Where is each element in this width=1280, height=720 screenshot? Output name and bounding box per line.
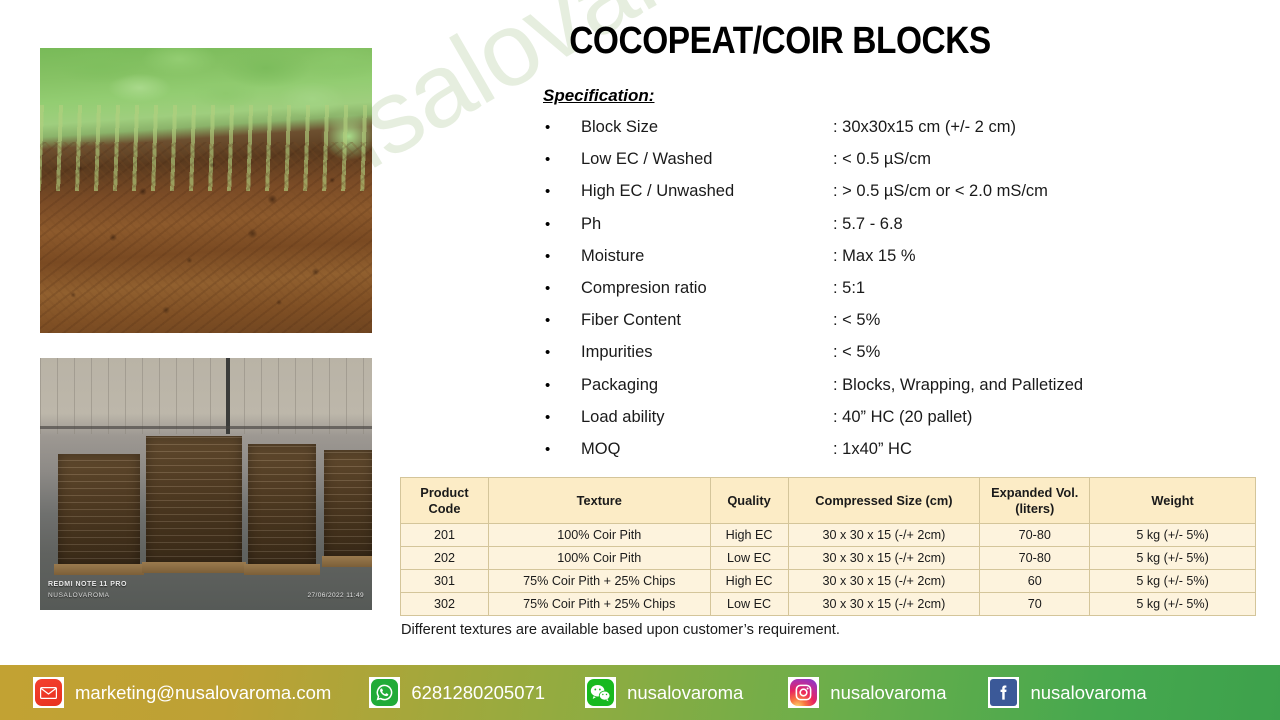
spec-label: MOQ — [581, 440, 833, 459]
spec-row: • Low EC / Washed : < 0.5 µS/cm — [543, 150, 1243, 182]
cell-product-code: 301 — [401, 570, 489, 593]
spec-row: • Moisture : Max 15 % — [543, 247, 1243, 279]
warehouse-beam — [226, 358, 230, 434]
contact-wechat[interactable]: nusalovaroma — [585, 677, 743, 708]
camera-watermark-brand: REDMI NOTE 11 PRO — [48, 581, 127, 588]
spec-row: • Ph : 5.7 - 6.8 — [543, 215, 1243, 247]
whatsapp-text: 6281280205071 — [411, 682, 545, 704]
table-footnote: Different textures are available based u… — [401, 622, 840, 638]
spec-value: : Max 15 % — [833, 247, 916, 266]
spec-value: : 40” HC (20 pallet) — [833, 408, 972, 427]
bullet-icon: • — [543, 152, 581, 167]
photo-timestamp: 27/06/2022 11:49 — [307, 592, 364, 599]
cell-compressed-size: 30 x 30 x 15 (-/+ 2cm) — [788, 570, 980, 593]
spec-value: : < 5% — [833, 343, 880, 362]
bullet-icon: • — [543, 378, 581, 393]
spec-row: • Block Size : 30x30x15 cm (+/- 2 cm) — [543, 118, 1243, 150]
spec-label: Load ability — [581, 408, 833, 427]
header-line: Expanded Vol. — [991, 485, 1078, 500]
spec-value: : 5:1 — [833, 279, 865, 298]
wechat-icon — [585, 677, 616, 708]
wechat-text: nusalovaroma — [627, 682, 743, 704]
table-header: Product Code Texture Quality Compressed … — [401, 478, 1256, 524]
column-header-expanded-volume: Expanded Vol. (liters) — [980, 478, 1090, 524]
spec-value: : Blocks, Wrapping, and Palletized — [833, 376, 1083, 395]
cell-expanded-volume: 70 — [980, 593, 1090, 616]
bullet-icon: • — [543, 313, 581, 328]
cell-product-code: 302 — [401, 593, 489, 616]
cell-quality: High EC — [710, 524, 788, 547]
cell-quality: Low EC — [710, 547, 788, 570]
table-header-row: Product Code Texture Quality Compressed … — [401, 478, 1256, 524]
spec-label: Compresion ratio — [581, 279, 833, 298]
product-specification-table: Product Code Texture Quality Compressed … — [400, 477, 1256, 616]
cell-product-code: 201 — [401, 524, 489, 547]
bullet-icon: • — [543, 281, 581, 296]
email-icon — [33, 677, 64, 708]
spec-value: : 5.7 - 6.8 — [833, 215, 903, 234]
spec-row: • Impurities : < 5% — [543, 343, 1243, 375]
table-row: 302 75% Coir Pith + 25% Chips Low EC 30 … — [401, 593, 1256, 616]
contact-facebook[interactable]: nusalovaroma — [988, 677, 1146, 708]
contact-instagram[interactable]: nusalovaroma — [788, 677, 946, 708]
bullet-icon: • — [543, 217, 581, 232]
header-line: Product — [420, 485, 468, 500]
cell-compressed-size: 30 x 30 x 15 (-/+ 2cm) — [788, 524, 980, 547]
cell-compressed-size: 30 x 30 x 15 (-/+ 2cm) — [788, 593, 980, 616]
spec-row: • MOQ : 1x40” HC — [543, 440, 1243, 472]
spec-row: • Load ability : 40” HC (20 pallet) — [543, 408, 1243, 440]
column-header-compressed-size: Compressed Size (cm) — [788, 478, 980, 524]
cell-compressed-size: 30 x 30 x 15 (-/+ 2cm) — [788, 547, 980, 570]
pallet-base-left — [54, 564, 144, 575]
contact-email[interactable]: marketing@nusalovaroma.com — [33, 677, 331, 708]
spec-label: Fiber Content — [581, 311, 833, 330]
photo-seedlings-in-cocopeat — [40, 48, 372, 333]
spec-value: : < 0.5 µS/cm — [833, 150, 931, 169]
pallet-base-far-right — [322, 556, 372, 567]
specification-heading: Specification: — [543, 86, 654, 106]
slide-canvas: www.nusalovaroma.com PT MAZAYA ANUGRAH S… — [0, 0, 1280, 720]
cell-weight: 5 kg (+/- 5%) — [1090, 524, 1256, 547]
pallet-base-center — [142, 562, 246, 573]
pallet-stack-left — [58, 454, 140, 566]
contact-footer-bar: marketing@nusalovaroma.com 6281280205071 — [0, 665, 1280, 720]
pallet-base-right — [244, 564, 320, 575]
header-line: (liters) — [1015, 501, 1054, 516]
table-row: 202 100% Coir Pith Low EC 30 x 30 x 15 (… — [401, 547, 1256, 570]
spec-label: Ph — [581, 215, 833, 234]
spec-label: High EC / Unwashed — [581, 182, 833, 201]
cell-product-code: 202 — [401, 547, 489, 570]
spec-value: : < 5% — [833, 311, 880, 330]
cell-weight: 5 kg (+/- 5%) — [1090, 547, 1256, 570]
warehouse-rail — [40, 426, 372, 429]
pallet-stack-center — [146, 436, 242, 564]
column-header-product-code: Product Code — [401, 478, 489, 524]
specification-list: • Block Size : 30x30x15 cm (+/- 2 cm) • … — [543, 118, 1243, 472]
bullet-icon: • — [543, 410, 581, 425]
cell-weight: 5 kg (+/- 5%) — [1090, 593, 1256, 616]
cell-texture: 75% Coir Pith + 25% Chips — [488, 570, 710, 593]
table-body: 201 100% Coir Pith High EC 30 x 30 x 15 … — [401, 524, 1256, 616]
cell-texture: 100% Coir Pith — [488, 547, 710, 570]
whatsapp-icon — [369, 677, 400, 708]
contact-whatsapp[interactable]: 6281280205071 — [369, 677, 545, 708]
cell-texture: 100% Coir Pith — [488, 524, 710, 547]
pallet-stack-far-right — [324, 450, 372, 558]
column-header-texture: Texture — [488, 478, 710, 524]
spec-row: • Fiber Content : < 5% — [543, 311, 1243, 343]
bullet-icon: • — [543, 184, 581, 199]
table-row: 201 100% Coir Pith High EC 30 x 30 x 15 … — [401, 524, 1256, 547]
bullet-icon: • — [543, 120, 581, 135]
bullet-icon: • — [543, 345, 581, 360]
instagram-text: nusalovaroma — [830, 682, 946, 704]
bullet-icon: • — [543, 249, 581, 264]
header-line: Code — [428, 501, 460, 516]
cell-expanded-volume: 60 — [980, 570, 1090, 593]
cell-expanded-volume: 70-80 — [980, 524, 1090, 547]
spec-value: : 30x30x15 cm (+/- 2 cm) — [833, 118, 1016, 137]
cell-expanded-volume: 70-80 — [980, 547, 1090, 570]
spec-value: : > 0.5 µS/cm or < 2.0 mS/cm — [833, 182, 1048, 201]
spec-row: • Packaging : Blocks, Wrapping, and Pall… — [543, 376, 1243, 408]
camera-watermark-owner: NUSALOVAROMA — [48, 592, 110, 599]
spec-row: • Compresion ratio : 5:1 — [543, 279, 1243, 311]
spec-label: Block Size — [581, 118, 833, 137]
column-header-quality: Quality — [710, 478, 788, 524]
spec-label: Packaging — [581, 376, 833, 395]
warehouse-wall — [40, 358, 372, 434]
page-title: COCOPEAT/COIR BLOCKS — [446, 20, 1115, 63]
spec-label: Moisture — [581, 247, 833, 266]
coir-soil-texture — [40, 142, 372, 333]
cell-quality: High EC — [710, 570, 788, 593]
table-row: 301 75% Coir Pith + 25% Chips High EC 30… — [401, 570, 1256, 593]
spec-row: • High EC / Unwashed : > 0.5 µS/cm or < … — [543, 182, 1243, 214]
facebook-icon — [988, 677, 1019, 708]
pallet-stack-right — [248, 444, 316, 566]
cell-quality: Low EC — [710, 593, 788, 616]
cell-weight: 5 kg (+/- 5%) — [1090, 570, 1256, 593]
photo-palletized-blocks: PT MAZAYA ANUGRAH SAKTI WWW.NUSALOVAROMA… — [40, 358, 372, 610]
bullet-icon: • — [543, 442, 581, 457]
facebook-text: nusalovaroma — [1030, 682, 1146, 704]
instagram-icon — [788, 677, 819, 708]
spec-label: Low EC / Washed — [581, 150, 833, 169]
spec-label: Impurities — [581, 343, 833, 362]
spec-value: : 1x40” HC — [833, 440, 912, 459]
column-header-weight: Weight — [1090, 478, 1256, 524]
cell-texture: 75% Coir Pith + 25% Chips — [488, 593, 710, 616]
email-text: marketing@nusalovaroma.com — [75, 682, 331, 704]
